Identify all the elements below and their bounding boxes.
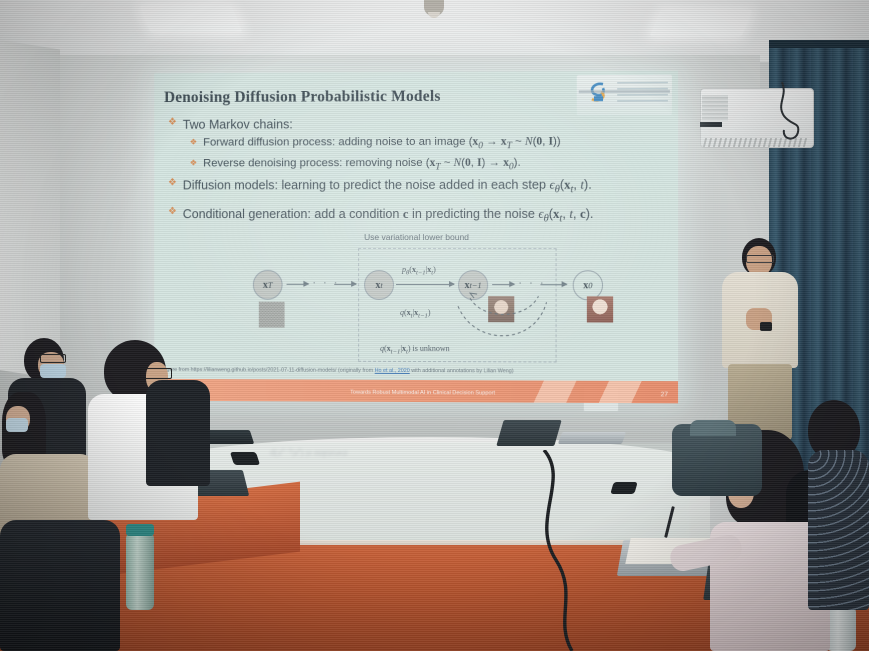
diagram-thumb-face-0 bbox=[587, 296, 613, 322]
attendee-dark-jacket bbox=[146, 366, 210, 486]
diagram-label-reverse: q(xt|xt−1) bbox=[400, 308, 430, 320]
slide-page-number: 27 bbox=[661, 391, 668, 398]
teal-tumbler-cap bbox=[126, 524, 154, 536]
bullet-item: ❖ Two Markov chains: bbox=[168, 115, 668, 133]
diagram-ellipsis-2: · · · bbox=[518, 277, 545, 289]
teal-tumbler bbox=[126, 534, 154, 610]
attendee-torso bbox=[0, 520, 120, 651]
slide-title: Denoising Diffusion Probabilistic Models bbox=[164, 88, 441, 107]
bullet-item: ❖ Forward diffusion process: adding nois… bbox=[190, 135, 668, 154]
university-logo bbox=[577, 75, 672, 116]
slide-footer-deck-title: Towards Robust Multimodal AI in Clinical… bbox=[350, 390, 495, 397]
air-conditioner-grill bbox=[702, 95, 728, 121]
bullet-diamond-icon: ❖ bbox=[168, 177, 177, 189]
presenter-glasses-icon bbox=[746, 255, 774, 263]
attendee-torso bbox=[808, 450, 869, 610]
bullet-text: Forward diffusion process: adding noise … bbox=[203, 135, 561, 154]
attendee-torso bbox=[146, 380, 210, 486]
diagram-arrow-1 bbox=[287, 284, 309, 285]
smoke-detector-icon bbox=[424, 0, 444, 16]
bullet-diamond-icon: ❖ bbox=[190, 158, 198, 169]
diagram-thumb-noise bbox=[259, 302, 285, 328]
ceiling-light-right bbox=[650, 10, 753, 36]
diagram-label-forward: pθ(xt−1|xt) bbox=[402, 265, 436, 277]
face-mask-icon bbox=[40, 364, 66, 378]
diagram-caption: Use variational lower bound bbox=[364, 232, 469, 242]
bullet-text: Conditional generation: add a condition … bbox=[183, 206, 594, 226]
attendee-glasses-icon bbox=[40, 354, 66, 363]
logo-wordmark bbox=[617, 82, 668, 106]
phone-left bbox=[230, 452, 260, 465]
bullet-diamond-icon: ❖ bbox=[168, 206, 177, 218]
lecture-room-screenshot: Denoising Diffusion Probabilistic Models… bbox=[0, 0, 869, 651]
face-mask-icon bbox=[6, 418, 28, 432]
slide-citation: Figure from https://lilianweng.github.io… bbox=[162, 367, 513, 374]
diagram-ellipsis-1: · · · bbox=[312, 277, 339, 289]
phone-center bbox=[610, 482, 637, 494]
bullet-item: ❖ Conditional generation: add a conditio… bbox=[168, 206, 668, 226]
presenter-watch bbox=[760, 322, 772, 331]
diagram-label-unknown: q(xt−1|xt) is unknown bbox=[380, 344, 450, 356]
ceiling-light-left bbox=[140, 6, 243, 32]
citation-suffix: with additional annotations by Lilian We… bbox=[410, 368, 514, 374]
diagram-arrow-4 bbox=[540, 284, 566, 285]
diagram-arrow-3 bbox=[492, 284, 514, 285]
bullet-text: Two Markov chains: bbox=[183, 116, 293, 133]
attendee-foreground-left bbox=[0, 520, 120, 651]
slide-bullet-list: ❖ Two Markov chains: ❖ Forward diffusion… bbox=[168, 115, 668, 229]
bullet-item: ❖ Reverse denoising process: removing no… bbox=[190, 155, 668, 174]
logo-mark-icon bbox=[583, 79, 613, 109]
diffusion-chain-diagram: Use variational lower bound xT · · · xt … bbox=[253, 232, 654, 363]
bullet-diamond-icon: ❖ bbox=[168, 117, 177, 129]
air-conditioner-display bbox=[700, 122, 722, 127]
citation-link[interactable]: Ho et al., 2020 bbox=[375, 368, 410, 374]
bullet-diamond-icon: ❖ bbox=[190, 137, 198, 148]
left-wall bbox=[0, 40, 60, 380]
bullet-text: Diffusion models: learning to predict th… bbox=[183, 176, 592, 197]
presenter bbox=[716, 238, 806, 438]
laptop-base bbox=[558, 432, 626, 444]
bullet-text: Reverse denoising process: removing nois… bbox=[203, 156, 521, 174]
backpack-strap bbox=[690, 420, 736, 436]
laptop-lid bbox=[496, 420, 561, 446]
diagram-node-xT: xT bbox=[253, 270, 283, 300]
bullet-item: ❖ Diffusion models: learning to predict … bbox=[168, 176, 668, 197]
ac-cable bbox=[770, 82, 804, 152]
attendee-patterned-top bbox=[808, 400, 869, 610]
projected-slide: Denoising Diffusion Probabilistic Models… bbox=[154, 71, 678, 404]
